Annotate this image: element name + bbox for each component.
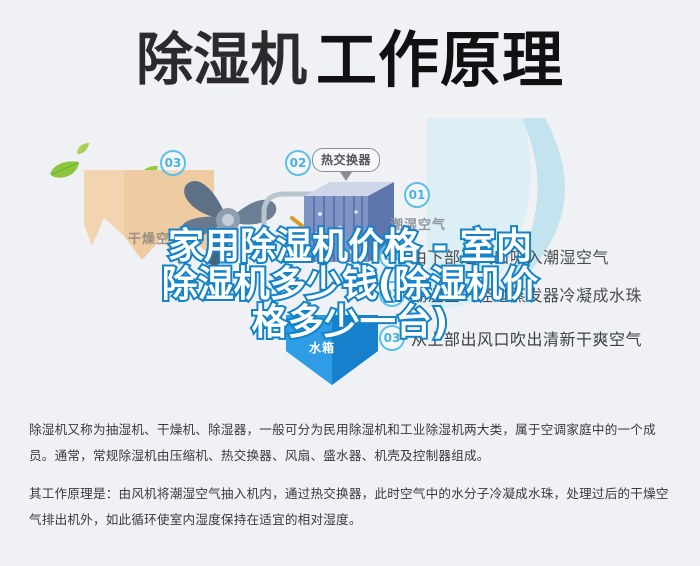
step-list: 01 由下部进风口吸入潮湿空气 02 潮湿空气经过蒸发器冷凝成水珠 03 从上部… <box>0 110 700 400</box>
step-label-02: 潮湿空气经过蒸发器冷凝成水珠 <box>411 282 642 306</box>
body-copy: 除湿机又称为抽湿机、干燥机、除湿器，一般可分为民用除湿机和工业除湿机两大类，属于… <box>29 417 674 533</box>
step-number-03: 03 <box>379 325 405 351</box>
page-title: 除湿机 工作原理 <box>0 22 700 98</box>
step-item-01: 01 由下部进风口吸入潮湿空气 <box>379 243 609 269</box>
step-label-01: 由下部进风口吸入潮湿空气 <box>411 244 609 268</box>
step-label-03: 从上部出风口吹出清新干爽空气 <box>411 326 642 350</box>
step-number-02: 02 <box>379 281 405 307</box>
body-paragraph-1: 除湿机又称为抽湿机、干燥机、除湿器，一般可分为民用除湿机和工业除湿机两大类，属于… <box>29 417 674 469</box>
body-paragraph-2: 其工作原理是：由风机将潮湿空气抽入机内，通过热交换器，此时空气中的水分子冷凝成水… <box>29 481 674 533</box>
step-item-02: 02 潮湿空气经过蒸发器冷凝成水珠 <box>379 281 642 307</box>
step-number-01: 01 <box>379 243 405 269</box>
page-title-part-b: 工作原理 <box>316 30 564 91</box>
step-item-03: 03 从上部出风口吹出清新干爽空气 <box>379 325 642 351</box>
page-title-part-a: 除湿机 <box>136 32 307 89</box>
infographic-page: 除湿机 工作原理 <box>0 0 700 566</box>
